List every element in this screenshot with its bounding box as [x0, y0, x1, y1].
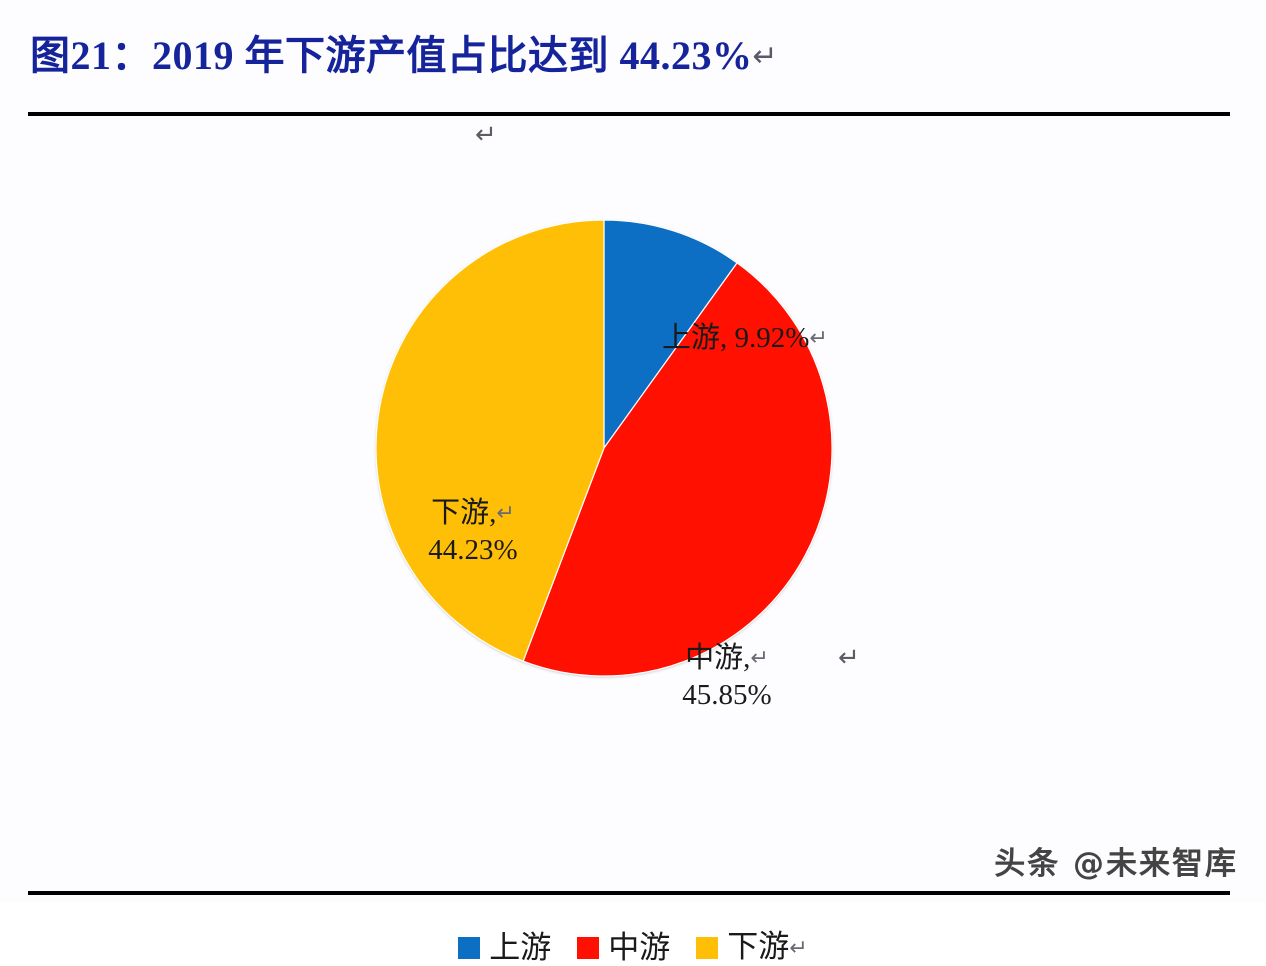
chart-legend: 上游 中游 下游↵ [0, 930, 1266, 966]
divider-top [28, 112, 1230, 116]
data-label-zhongyou-line1: 中游, [685, 642, 750, 674]
legend-swatch-zhongyou-icon [577, 937, 599, 959]
paragraph-mark-icon: ↵ [475, 122, 497, 148]
legend-label-xiayou: 下游↵ [727, 930, 807, 966]
data-label-xiayou-pilcrow-icon: ↵ [496, 501, 514, 526]
legend-swatch-shangyou-icon [458, 937, 480, 959]
divider-bottom [28, 891, 1230, 895]
legend-swatch-xiayou-icon [696, 937, 718, 959]
legend-item-xiayou[interactable]: 下游↵ [696, 930, 807, 966]
data-label-zhongyou: 中游,↵ 45.85% [652, 640, 802, 713]
legend-item-shangyou[interactable]: 上游 [458, 931, 551, 965]
pie-graphic [374, 218, 834, 678]
data-label-shangyou: 上游, 9.92%↵ [662, 320, 828, 357]
legend-item-zhongyou[interactable]: 中游 [577, 931, 670, 965]
data-label-zhongyou-line2: 45.85% [652, 677, 802, 713]
legend-pilcrow-icon: ↵ [789, 936, 807, 961]
title-pilcrow-mark: ↵ [753, 39, 779, 74]
legend-label-xiayou-text: 下游 [727, 929, 789, 964]
data-label-xiayou-line1: 下游, [431, 497, 496, 529]
watermark: 头条 @未来智库 [994, 838, 1238, 883]
figure-page: 图21：2019 年下游产值占比达到 44.23%↵ ↵ 上游, 9.92%↵ … [0, 0, 1266, 902]
legend-label-shangyou: 上游 [489, 931, 551, 965]
legend-label-zhongyou: 中游 [608, 931, 670, 965]
page-title: 图21：2019 年下游产值占比达到 44.23%↵ [30, 30, 1130, 83]
data-label-shangyou-text: 上游, 9.92%↵ [662, 320, 828, 357]
data-label-xiayou: 下游,↵ 44.23% [398, 495, 548, 568]
data-label-shangyou-line1: 上游, 9.92% [662, 322, 809, 354]
data-label-shangyou-pilcrow-icon: ↵ [809, 326, 827, 351]
data-label-zhongyou-line1-wrap: 中游,↵ [652, 640, 802, 677]
pie-chart: 上游, 9.92%↵ 下游,↵ 44.23% 中游,↵ 45.85% 上游 中游… [0, 150, 1266, 850]
paragraph-mark-icon-2: ↵ [838, 645, 860, 671]
data-label-zhongyou-pilcrow-icon: ↵ [750, 646, 768, 671]
data-label-xiayou-line2: 44.23% [398, 532, 548, 568]
data-label-xiayou-line1-wrap: 下游,↵ [398, 495, 548, 532]
pie-svg [374, 218, 834, 678]
page-title-text: 图21：2019 年下游产值占比达到 44.23% [30, 33, 753, 78]
